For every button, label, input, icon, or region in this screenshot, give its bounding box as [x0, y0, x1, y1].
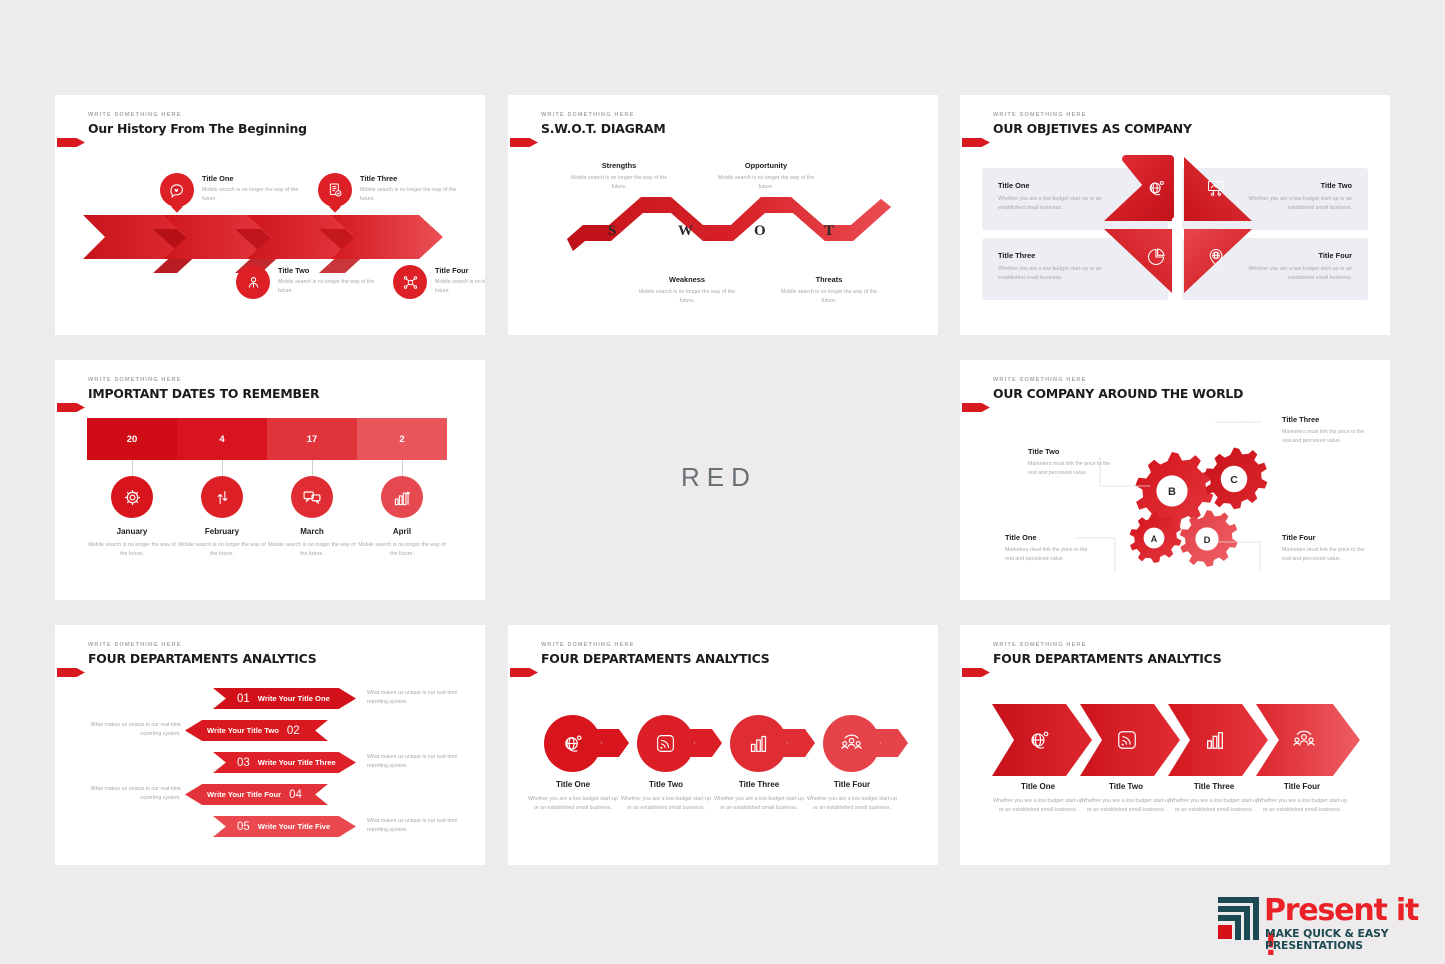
kicker: WRITE SOMETHING HERE: [88, 642, 317, 648]
title-marker-arrow: [962, 403, 990, 412]
step-row-04[interactable]: Write Your Title Four 04: [185, 784, 328, 805]
date-stem: [132, 460, 133, 476]
step-number: 04: [289, 789, 302, 801]
slide-header: WRITE SOMETHING HERE Our History From Th…: [88, 112, 307, 136]
page-title: OUR OBJETIVES AS COMPANY: [993, 121, 1192, 136]
circle-caption-two[interactable]: Title Two Whether you are a low budget s…: [619, 780, 713, 813]
bar-growth-icon: [393, 488, 412, 507]
icon-pin: [160, 173, 194, 207]
step-number: 01: [237, 693, 250, 705]
slide-dates[interactable]: WRITE SOMETHING HERE IMPORTANT DATES TO …: [55, 360, 485, 600]
note-title: Title Two: [1028, 447, 1116, 456]
node-title: Title Four: [435, 266, 485, 275]
page-title: IMPORTANT DATES TO REMEMBER: [88, 386, 319, 401]
brand-logo[interactable]: Present it ! MAKE QUICK & EASY PRESENTAT…: [1216, 893, 1428, 949]
step-number: 03: [237, 757, 250, 769]
globe-network-icon: [1027, 728, 1051, 752]
step-row-01[interactable]: 01 Write Your Title One: [213, 688, 356, 709]
swot-quadrant-opportunity[interactable]: Opportunity Mobile search is no longer t…: [711, 161, 821, 192]
item-desc: Whether you are a low budget start-up or…: [619, 795, 713, 813]
bar-chart-icon: [748, 733, 769, 754]
month-label: March: [267, 527, 357, 536]
swot-letter-w: W: [678, 223, 693, 240]
title-marker-arrow: [962, 668, 990, 677]
node-title: Title Three: [360, 174, 460, 183]
swot-letter-t: T: [824, 223, 834, 240]
chat-heart-icon: [169, 182, 186, 199]
note-title: Title Four: [1282, 533, 1370, 542]
quadrant-label: Threats: [774, 275, 884, 284]
chevron-four[interactable]: [1256, 704, 1360, 776]
location-globe-icon: [1206, 247, 1226, 267]
swot-letter-s: S: [608, 223, 616, 240]
month-desc: Mobile search is no longer the way of th…: [267, 541, 357, 559]
quadrant-desc: Mobile search is no longer the way of th…: [632, 288, 742, 306]
item-title: Title Four: [805, 780, 899, 789]
date-number-cell[interactable]: 17: [267, 418, 357, 460]
kicker: WRITE SOMETHING HERE: [993, 112, 1192, 118]
card-title: Title One: [998, 181, 1030, 190]
card-title: Title Four: [1318, 251, 1352, 260]
node-text: Title Four Mobile search is no longer th…: [435, 266, 485, 296]
timeline-arrow-band: [83, 215, 443, 273]
date-number-cell[interactable]: 20: [87, 418, 177, 460]
node-desc: Mobile search is no longer the way of th…: [202, 186, 302, 204]
kicker: WRITE SOMETHING HERE: [541, 642, 770, 648]
chat-icon: [302, 487, 322, 507]
page-title: OUR COMPANY AROUND THE WORLD: [993, 386, 1243, 401]
chevron-caption-four[interactable]: Title Four Whether you are a low budget …: [1256, 782, 1348, 815]
item-desc: Whether you are a low budget start-up or…: [805, 795, 899, 813]
step-label: Write Your Title Four: [207, 790, 281, 799]
document-check-icon: [327, 182, 343, 198]
quadrant-desc: Mobile search is no longer the way of th…: [711, 174, 821, 192]
step-label: Write Your Title Five: [258, 822, 330, 831]
item-desc: Whether you are a low budget start-up or…: [1080, 797, 1172, 815]
step-label: Write Your Title Three: [258, 758, 336, 767]
date-number-cell[interactable]: 2: [357, 418, 447, 460]
globe-network-icon: [1146, 178, 1166, 198]
title-marker-arrow: [57, 403, 85, 412]
gear-cluster: B C A D: [1110, 433, 1285, 578]
chevron-two[interactable]: [1080, 704, 1180, 776]
logo-tagline: MAKE QUICK & EASY PRESENTATIONS: [1265, 928, 1431, 952]
slide-objectives[interactable]: WRITE SOMETHING HERE OUR OBJETIVES AS CO…: [960, 95, 1390, 335]
gear-label-c: C: [1230, 474, 1238, 486]
slide-header: WRITE SOMETHING HERE FOUR DEPARTAMENTS A…: [88, 642, 317, 666]
item-title: Title One: [992, 782, 1084, 791]
month-desc: Mobile search is no longer the way of th…: [87, 541, 177, 559]
item-title: Title One: [526, 780, 620, 789]
gear-label-b: B: [1168, 486, 1176, 498]
slide-steps[interactable]: WRITE SOMETHING HERE FOUR DEPARTAMENTS A…: [55, 625, 485, 865]
slide-header: WRITE SOMETHING HERE IMPORTANT DATES TO …: [88, 377, 319, 401]
item-title: Title Three: [712, 780, 806, 789]
title-marker-arrow: [962, 138, 990, 147]
page-title: FOUR DEPARTAMENTS ANALYTICS: [993, 651, 1222, 666]
center-word-red: RED: [681, 462, 757, 493]
circle-caption-three[interactable]: Title Three Whether you are a low budget…: [712, 780, 806, 813]
note-desc: Marketers must link the price to the rea…: [1005, 546, 1093, 564]
slide-header: WRITE SOMETHING HERE OUR OBJETIVES AS CO…: [993, 112, 1192, 136]
slide-history[interactable]: WRITE SOMETHING HERE Our History From Th…: [55, 95, 485, 335]
node-desc: Mobile search is no longer the way of th…: [435, 278, 485, 296]
icon-pin: [236, 265, 270, 299]
slide-header: WRITE SOMETHING HERE FOUR DEPARTAMENTS A…: [541, 642, 770, 666]
swot-quadrant-strengths[interactable]: Strengths Mobile search is no longer the…: [564, 161, 674, 192]
title-marker-arrow: [510, 668, 538, 677]
node-title: Title Two: [278, 266, 378, 275]
node-text: Title Two Mobile search is no longer the…: [278, 266, 378, 296]
step-row-03[interactable]: 03 Write Your Title Three: [213, 752, 356, 773]
page-title: Our History From The Beginning: [88, 121, 307, 136]
gear-note-two[interactable]: Title Two Marketers must link the price …: [1028, 447, 1116, 478]
title-marker-arrow: [510, 138, 538, 147]
note-title: Title Three: [1282, 415, 1370, 424]
month-label: April: [357, 527, 447, 536]
arrows-icon: [213, 488, 232, 507]
node-desc: Mobile search is no longer the way of th…: [360, 186, 460, 204]
item-desc: Whether you are a low budget start-up or…: [992, 797, 1084, 815]
node-text: Title Three Mobile search is no longer t…: [360, 174, 460, 204]
swot-letter-o: O: [754, 223, 766, 240]
swot-quadrant-weakness[interactable]: Weakness Mobile search is no longer the …: [632, 275, 742, 306]
quadrant-label: Strengths: [564, 161, 674, 170]
item-desc: Whether you are a low budget start-up or…: [1168, 797, 1260, 815]
rss-icon: [655, 733, 676, 754]
date-stem: [222, 460, 223, 476]
step-row-05[interactable]: 05 Write Your Title Five: [213, 816, 356, 837]
team-icon: [1292, 728, 1316, 752]
gear-label-d: D: [1204, 535, 1211, 546]
kicker: WRITE SOMETHING HERE: [993, 377, 1243, 383]
item-desc: Whether you are a low budget start-up or…: [526, 795, 620, 813]
month-desc: Mobile search is no longer the way of th…: [357, 541, 447, 559]
date-icon-circle: [381, 476, 423, 518]
gear-note-four[interactable]: Title Four Marketers must link the price…: [1282, 533, 1370, 564]
page-title: FOUR DEPARTAMENTS ANALYTICS: [88, 651, 317, 666]
presentation-icon: [1206, 178, 1226, 198]
month-label: February: [177, 527, 267, 536]
step-label: Write Your Title One: [258, 694, 330, 703]
step-desc: What makes us unique is our real-time re…: [85, 785, 181, 803]
circle-caption-four[interactable]: Title Four Whether you are a low budget …: [805, 780, 899, 813]
gear-icon: [123, 488, 142, 507]
date-column[interactable]: March Mobile search is no longer the way…: [267, 527, 357, 559]
date-stem: [402, 460, 403, 476]
slide-header: WRITE SOMETHING HERE FOUR DEPARTAMENTS A…: [993, 642, 1222, 666]
bar-chart-icon: [1204, 729, 1226, 751]
slide-header: WRITE SOMETHING HERE S.W.O.T. DIAGRAM: [541, 112, 665, 136]
date-column[interactable]: February Mobile search is no longer the …: [177, 527, 267, 559]
circle-caption-one[interactable]: Title One Whether you are a low budget s…: [526, 780, 620, 813]
slide-header: WRITE SOMETHING HERE OUR COMPANY AROUND …: [993, 377, 1243, 401]
slide-circles[interactable]: WRITE SOMETHING HERE FOUR DEPARTAMENTS A…: [508, 625, 938, 865]
date-icon-circle: [111, 476, 153, 518]
slide-chevrons[interactable]: WRITE SOMETHING HERE FOUR DEPARTAMENTS A…: [960, 625, 1390, 865]
node-text: Title One Mobile search is no longer the…: [202, 174, 302, 204]
title-marker-arrow: [57, 138, 85, 147]
page-title: S.W.O.T. DIAGRAM: [541, 121, 665, 136]
quadrant-desc: Mobile search is no longer the way of th…: [564, 174, 674, 192]
quadrant-desc: Mobile search is no longer the way of th…: [774, 288, 884, 306]
note-title: Title One: [1005, 533, 1093, 542]
item-title: Title Three: [1168, 782, 1260, 791]
date-stem: [312, 460, 313, 476]
icon-pin: [393, 265, 427, 299]
chevron-caption-one[interactable]: Title One Whether you are a low budget s…: [992, 782, 1084, 815]
date-icon-circle: [201, 476, 243, 518]
kicker: WRITE SOMETHING HERE: [541, 112, 665, 118]
rss-icon: [1116, 729, 1138, 751]
item-desc: Whether you are a low budget start-up or…: [1256, 797, 1348, 815]
step-number: 02: [287, 725, 300, 737]
dates-bar: 20 4 17 2: [87, 418, 447, 460]
kicker: WRITE SOMETHING HERE: [88, 377, 319, 383]
item-desc: Whether you are a low budget start-up or…: [712, 795, 806, 813]
circle-icon-two[interactable]: [637, 715, 694, 772]
circle-icon-four[interactable]: [823, 715, 880, 772]
objective-triangles: [1098, 155, 1258, 295]
slide-swot[interactable]: WRITE SOMETHING HERE S.W.O.T. DIAGRAM S …: [508, 95, 938, 335]
circle-icon-three[interactable]: [730, 715, 787, 772]
pie-chart-icon: [1146, 247, 1166, 267]
logo-mark-icon: [1216, 896, 1260, 942]
chevron-three[interactable]: [1168, 704, 1268, 776]
icon-pin: [318, 173, 352, 207]
user-icon: [245, 274, 262, 291]
poster-canvas: WRITE SOMETHING HERE Our History From Th…: [0, 0, 1445, 964]
network-icon: [402, 274, 419, 291]
date-column[interactable]: January Mobile search is no longer the w…: [87, 527, 177, 559]
chevron-caption-three[interactable]: Title Three Whether you are a low budget…: [1168, 782, 1260, 815]
team-icon: [840, 732, 863, 755]
note-desc: Marketers must link the price to the rea…: [1028, 460, 1116, 478]
quadrant-label: Opportunity: [711, 161, 821, 170]
globe-network-icon: [561, 732, 584, 755]
date-column[interactable]: April Mobile search is no longer the way…: [357, 527, 447, 559]
month-desc: Mobile search is no longer the way of th…: [177, 541, 267, 559]
chevron-caption-two[interactable]: Title Two Whether you are a low budget s…: [1080, 782, 1172, 815]
node-desc: Mobile search is no longer the way of th…: [278, 278, 378, 296]
step-row-02[interactable]: Write Your Title Two 02: [185, 720, 328, 741]
circle-icon-one[interactable]: [544, 715, 601, 772]
gear-label-a: A: [1151, 534, 1158, 544]
date-number-cell[interactable]: 4: [177, 418, 267, 460]
date-icon-circle: [291, 476, 333, 518]
month-label: January: [87, 527, 177, 536]
item-title: Title Four: [1256, 782, 1348, 791]
step-desc: What makes us unique is our real-time re…: [367, 817, 463, 835]
gear-note-one[interactable]: Title One Marketers must link the price …: [1005, 533, 1093, 564]
page-title: FOUR DEPARTAMENTS ANALYTICS: [541, 651, 770, 666]
item-title: Title Two: [619, 780, 713, 789]
card-title: Title Two: [1321, 181, 1352, 190]
quadrant-label: Weakness: [632, 275, 742, 284]
step-desc: What makes us unique is our real-time re…: [367, 689, 463, 707]
slide-gears[interactable]: WRITE SOMETHING HERE OUR COMPANY AROUND …: [960, 360, 1390, 600]
note-desc: Marketers must link the price to the rea…: [1282, 428, 1370, 446]
kicker: WRITE SOMETHING HERE: [88, 112, 307, 118]
swot-quadrant-threats[interactable]: Threats Mobile search is no longer the w…: [774, 275, 884, 306]
gear-note-three[interactable]: Title Three Marketers must link the pric…: [1282, 415, 1370, 446]
node-title: Title One: [202, 174, 302, 183]
chevron-one[interactable]: [992, 704, 1092, 776]
note-desc: Marketers must link the price to the rea…: [1282, 546, 1370, 564]
item-title: Title Two: [1080, 782, 1172, 791]
card-title: Title Three: [998, 251, 1035, 260]
step-number: 05: [237, 821, 250, 833]
kicker: WRITE SOMETHING HERE: [993, 642, 1222, 648]
title-marker-arrow: [57, 668, 85, 677]
step-label: Write Your Title Two: [207, 726, 279, 735]
step-desc: What makes us unique is our real-time re…: [367, 753, 463, 771]
step-desc: What makes us unique is our real-time re…: [85, 721, 181, 739]
